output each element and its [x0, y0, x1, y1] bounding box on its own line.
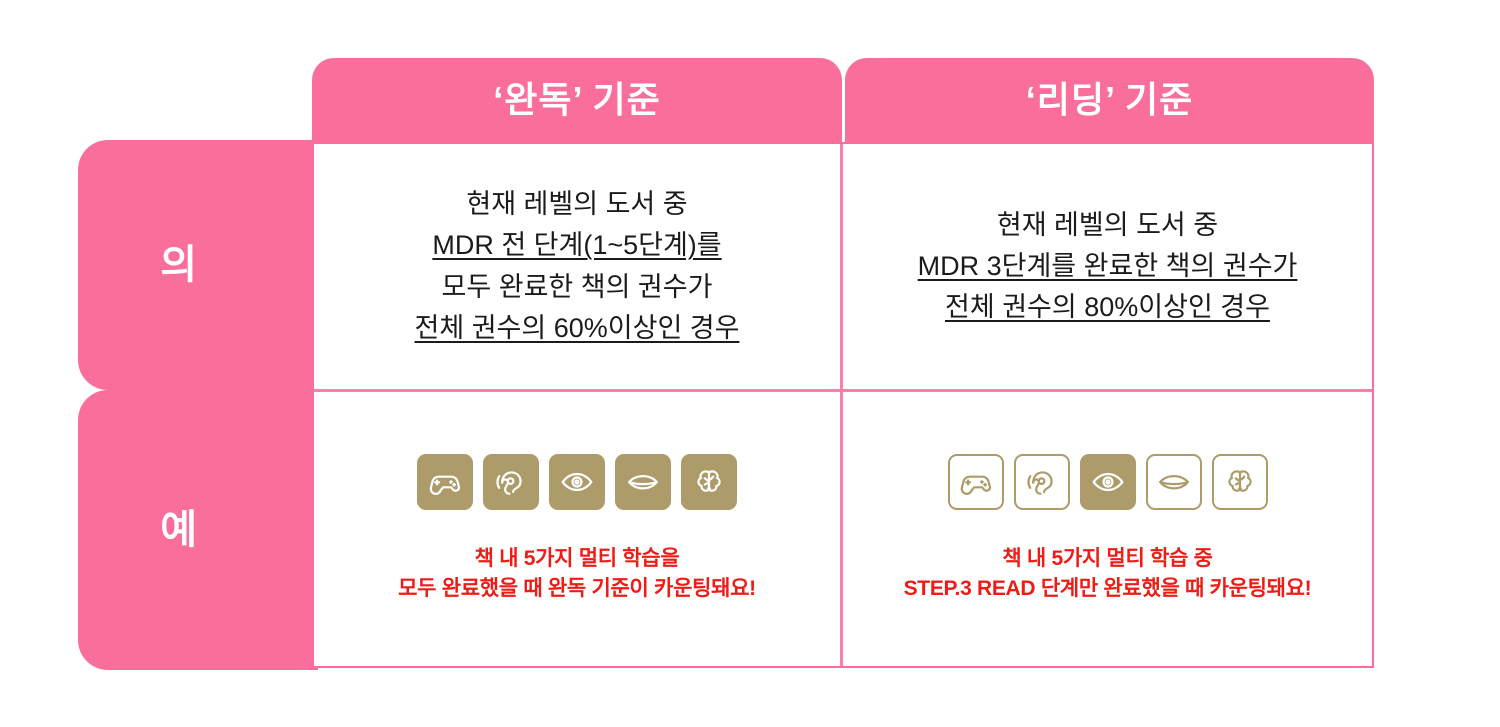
column-wandok: 현재 레벨의 도서 중 MDR 전 단계(1~5단계)를 모두 완료한 책의 권… — [314, 144, 843, 666]
comparison-table: 의미 예시 ‘완독’ 기준 ‘리딩’ 기준 현재 레벨의 도서 중 MDR 전 … — [0, 0, 1500, 727]
meaning-line: MDR 전 단계(1~5단계)를 — [432, 225, 721, 266]
cell-reading-example: 책 내 5가지 멀티 학습 중 STEP.3 READ 단계만 완료했을 때 카… — [843, 392, 1372, 666]
eye-icon — [1080, 454, 1136, 510]
sidebar-fill-bottom — [198, 390, 318, 670]
gamepad-icon — [948, 454, 1004, 510]
caption-line: 책 내 5가지 멀티 학습을 — [398, 544, 756, 574]
caption-wandok: 책 내 5가지 멀티 학습을 모두 완료했을 때 완독 기준이 카운팅돼요! — [398, 544, 756, 605]
caption-line: 모두 완료했을 때 완독 기준이 카운팅돼요! — [398, 574, 756, 604]
tab-reading-label: ‘리딩’ 기준 — [1026, 82, 1194, 118]
cell-wandok-example: 책 내 5가지 멀티 학습을 모두 완료했을 때 완독 기준이 카운팅돼요! — [314, 392, 840, 666]
caption-reading: 책 내 5가지 멀티 학습 중 STEP.3 READ 단계만 완료했을 때 카… — [904, 544, 1312, 605]
meaning-line: 전체 권수의 60%이상인 경우 — [415, 308, 740, 349]
meaning-line: 모두 완료한 책의 권수가 — [442, 267, 713, 308]
sidebar-fill-top — [198, 140, 318, 390]
caption-line: 책 내 5가지 멀티 학습 중 — [904, 544, 1312, 574]
cell-wandok-meaning: 현재 레벨의 도서 중 MDR 전 단계(1~5단계)를 모두 완료한 책의 권… — [314, 144, 840, 392]
ear-listen-icon — [483, 454, 539, 510]
cell-reading-meaning: 현재 레벨의 도서 중 MDR 3단계를 완료한 책의 권수가 전체 권수의 8… — [843, 144, 1372, 392]
meaning-line: 전체 권수의 80%이상인 경우 — [945, 287, 1270, 328]
eye-icon — [549, 454, 605, 510]
tab-reading[interactable]: ‘리딩’ 기준 — [845, 58, 1374, 142]
brain-icon — [1212, 454, 1268, 510]
column-reading: 현재 레벨의 도서 중 MDR 3단계를 완료한 책의 권수가 전체 권수의 8… — [843, 144, 1372, 666]
ear-listen-icon — [1014, 454, 1070, 510]
meaning-line: MDR 3단계를 완료한 책의 권수가 — [918, 246, 1298, 287]
table-body: 현재 레벨의 도서 중 MDR 전 단계(1~5단계)를 모두 완료한 책의 권… — [312, 142, 1374, 668]
caption-line: STEP.3 READ 단계만 완료했을 때 카운팅돼요! — [904, 574, 1312, 604]
lips-mouth-icon — [1146, 454, 1202, 510]
meaning-line: 현재 레벨의 도서 중 — [466, 184, 687, 225]
meaning-line: 현재 레벨의 도서 중 — [997, 205, 1218, 246]
icon-strip-reading — [948, 454, 1268, 510]
header-tabs: ‘완독’ 기준 ‘리딩’ 기준 — [312, 58, 1374, 142]
gamepad-icon — [417, 454, 473, 510]
tab-wandok[interactable]: ‘완독’ 기준 — [312, 58, 842, 142]
tab-wandok-label: ‘완독’ 기준 — [493, 82, 661, 118]
brain-icon — [681, 454, 737, 510]
row-label-column: 의미 예시 — [78, 140, 318, 670]
lips-mouth-icon — [615, 454, 671, 510]
icon-strip-wandok — [417, 454, 737, 510]
